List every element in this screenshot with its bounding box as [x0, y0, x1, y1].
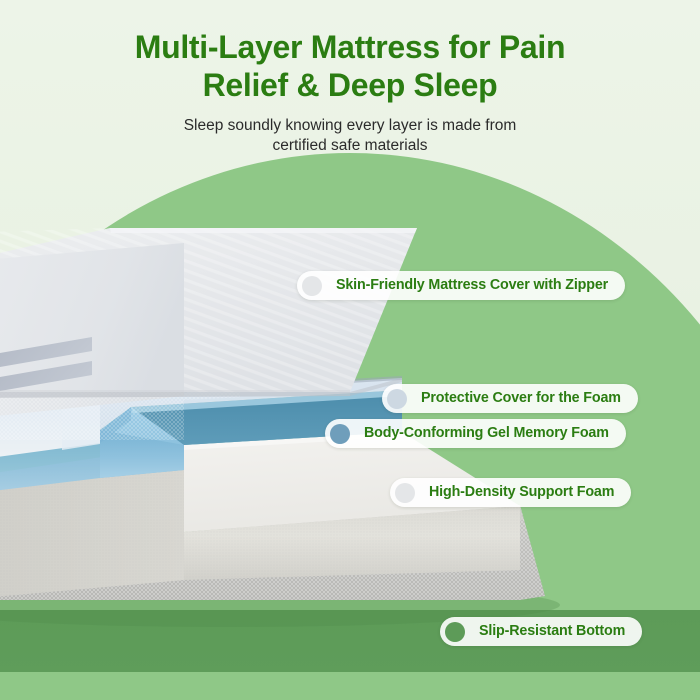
callout-high-density-support-foam[interactable]: High-Density Support Foam — [390, 478, 631, 507]
page-title-line1: Multi-Layer Mattress for Pain — [135, 29, 566, 65]
callout-label: Slip-Resistant Bottom — [479, 624, 625, 638]
infographic-canvas: Multi-Layer Mattress for Pain Relief & D… — [0, 0, 700, 700]
callout-label: Body-Conforming Gel Memory Foam — [364, 426, 609, 440]
callout-dot-icon — [387, 389, 407, 409]
page-subtitle-line2: certified safe materials — [272, 137, 427, 154]
callout-label: Protective Cover for the Foam — [421, 391, 621, 405]
header-block: Multi-Layer Mattress for Pain Relief & D… — [0, 0, 700, 156]
callout-slip-resistant-bottom[interactable]: Slip-Resistant Bottom — [440, 617, 642, 646]
page-title-line2: Relief & Deep Sleep — [203, 67, 498, 103]
page-title: Multi-Layer Mattress for Pain Relief & D… — [0, 0, 700, 105]
callout-protective-cover-foam[interactable]: Protective Cover for the Foam — [382, 384, 638, 413]
callout-skin-friendly-mattress-cover[interactable]: Skin-Friendly Mattress Cover with Zipper — [297, 271, 625, 300]
callout-dot-icon — [445, 622, 465, 642]
callout-label: High-Density Support Foam — [429, 485, 614, 499]
callout-dot-icon — [302, 276, 322, 296]
callout-dot-icon — [330, 424, 350, 444]
callout-dot-icon — [395, 483, 415, 503]
page-subtitle: Sleep soundly knowing every layer is mad… — [0, 105, 700, 157]
page-subtitle-line1: Sleep soundly knowing every layer is mad… — [184, 117, 517, 134]
callout-label: Skin-Friendly Mattress Cover with Zipper — [336, 278, 608, 292]
callout-gel-memory-foam[interactable]: Body-Conforming Gel Memory Foam — [325, 419, 626, 448]
